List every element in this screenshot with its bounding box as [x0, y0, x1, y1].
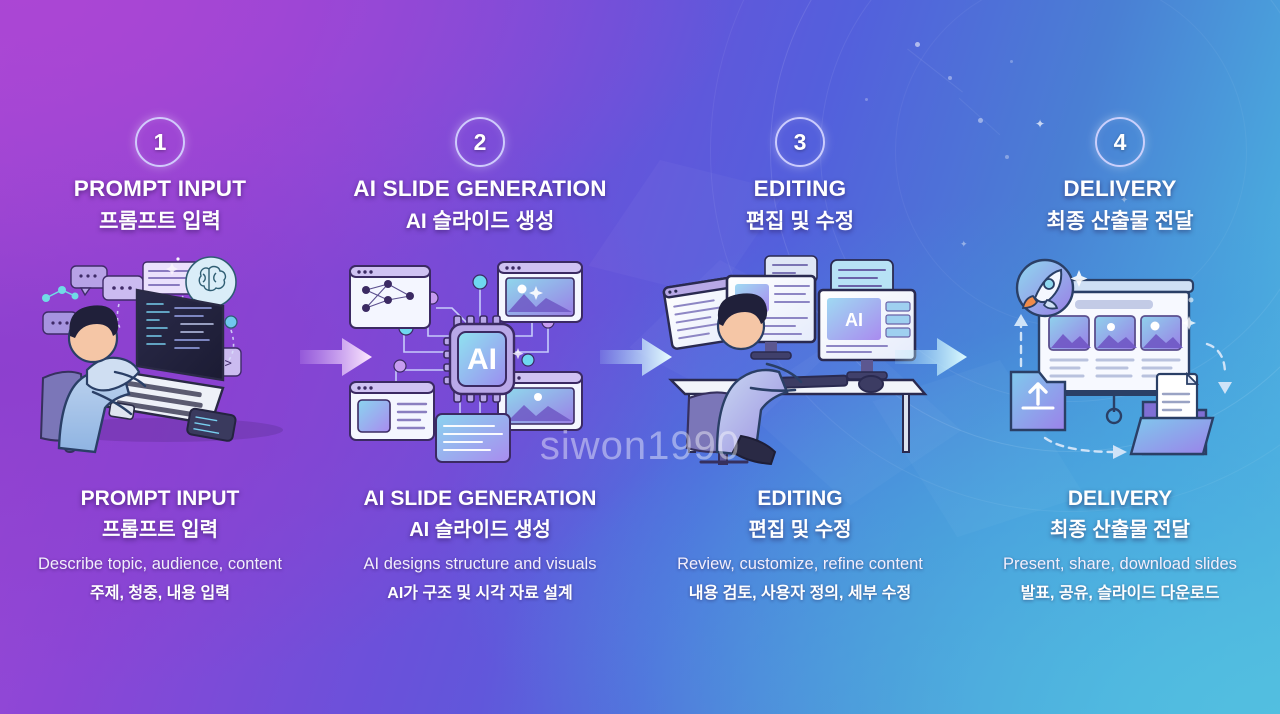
step-desc-ko-3: 내용 검토, 사용자 정의, 세부 수정	[644, 579, 956, 603]
step-caption-1: PROMPT INPUT 프롬프트 입력 Describe topic, aud…	[0, 487, 320, 603]
step-title-ko-3: 편집 및 수정	[646, 205, 954, 235]
arrow-step2-to-step3	[600, 334, 674, 380]
step-caption-ko-4: 최종 산출물 전달	[964, 513, 1276, 542]
infographic-poster: ✦ ✦ ✦ 1 PROMPT INPUT 프롬프트 입력	[0, 0, 1280, 714]
step-title-en-4: DELIVERY	[966, 176, 1274, 202]
step-desc-ko-1: 주제, 청중, 내용 입력	[4, 579, 316, 603]
step-header-3: EDITING 편집 및 수정	[640, 176, 960, 235]
step-title-ko-4: 최종 산출물 전달	[966, 205, 1274, 235]
step-number-badge-4: 4	[1095, 117, 1145, 167]
step-number-badge-3: 3	[775, 117, 825, 167]
step-illustration-4	[960, 252, 1280, 472]
step-header-1: PROMPT INPUT 프롬프트 입력	[0, 176, 320, 235]
step-caption-ko-2: AI 슬라이드 생성	[324, 513, 636, 542]
step-desc-ko-4: 발표, 공유, 슬라이드 다운로드	[964, 579, 1276, 603]
step-number-badge-2: 2	[455, 117, 505, 167]
step-caption-en-4: DELIVERY	[964, 487, 1276, 511]
step-caption-en-1: PROMPT INPUT	[4, 487, 316, 511]
ai-chip-label: AI	[467, 343, 497, 376]
step-caption-2: AI SLIDE GENERATION AI 슬라이드 생성 AI design…	[320, 487, 640, 603]
step-desc-en-3: Review, customize, refine content	[644, 555, 956, 574]
step-caption-ko-3: 편집 및 수정	[644, 513, 956, 542]
step-illustration-1: </>	[0, 252, 320, 472]
step-caption-en-3: EDITING	[644, 487, 956, 511]
step-title-en-1: PROMPT INPUT	[6, 176, 314, 202]
step-caption-4: DELIVERY 최종 산출물 전달 Present, share, downl…	[960, 487, 1280, 603]
editing-screen-ai-label: AI	[845, 310, 863, 330]
step-caption-3: EDITING 편집 및 수정 Review, customize, refin…	[640, 487, 960, 603]
step-header-2: AI SLIDE GENERATION AI 슬라이드 생성	[320, 176, 640, 235]
step-desc-ko-2: AI가 구조 및 시각 자료 설계	[324, 579, 636, 603]
step-column-1: 1 PROMPT INPUT 프롬프트 입력	[0, 0, 320, 714]
step-column-4: 4 DELIVERY 최종 산출물 전달	[960, 0, 1280, 714]
step-caption-en-2: AI SLIDE GENERATION	[324, 487, 636, 511]
step-title-ko-1: 프롬프트 입력	[6, 205, 314, 235]
step-title-ko-2: AI 슬라이드 생성	[326, 205, 634, 235]
step-desc-en-2: AI designs structure and visuals	[324, 555, 636, 574]
arrow-step3-to-step4	[895, 334, 969, 380]
step-caption-ko-1: 프롬프트 입력	[4, 513, 316, 542]
arrow-step1-to-step2	[300, 334, 374, 380]
step-number-badge-1: 1	[135, 117, 185, 167]
step-title-en-2: AI SLIDE GENERATION	[326, 176, 634, 202]
step-desc-en-4: Present, share, download slides	[964, 555, 1276, 574]
step-header-4: DELIVERY 최종 산출물 전달	[960, 176, 1280, 235]
step-title-en-3: EDITING	[646, 176, 954, 202]
step-desc-en-1: Describe topic, audience, content	[4, 555, 316, 574]
